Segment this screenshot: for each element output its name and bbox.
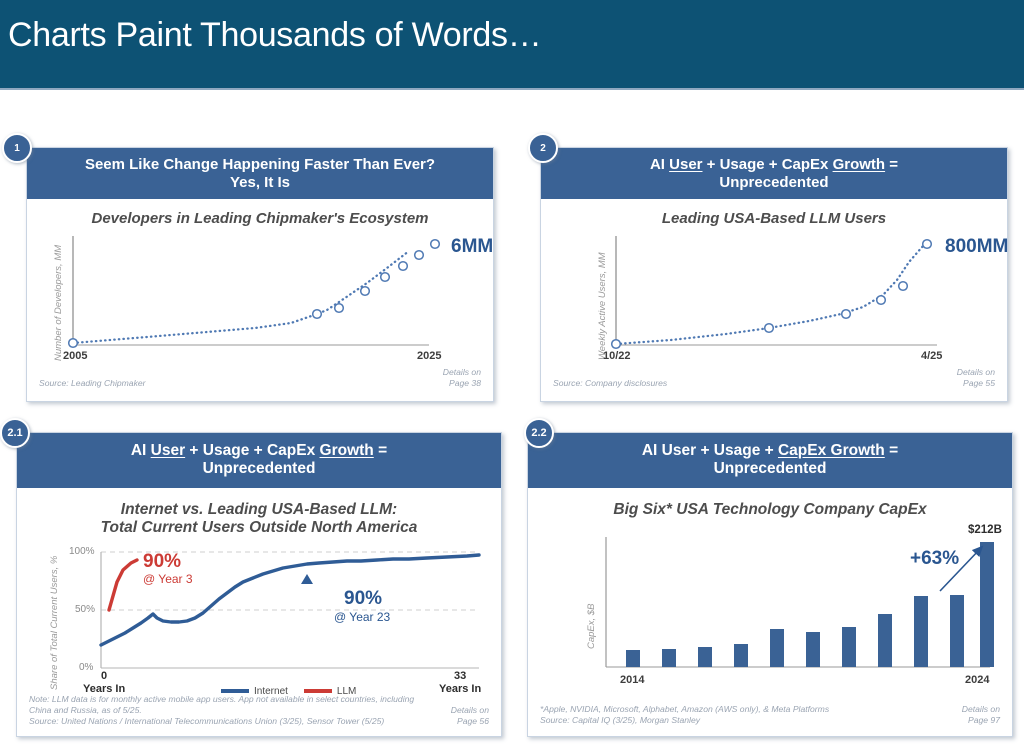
panel-2-1-note-line1: Note: LLM data is for monthly active mob… <box>29 694 429 705</box>
panel-2-2-body: Big Six* USA Technology Company CapEx Ca… <box>528 488 1012 733</box>
panel-2-2[interactable]: AI User + Usage + CapEx Growth =Unpreced… <box>527 432 1013 737</box>
panel-2-1-details-line1: Details on <box>451 705 489 716</box>
panel-2-1-internet-callout-sub: @ Year 23 <box>334 610 390 624</box>
panel-badge-2-1: 2.1 <box>0 418 30 448</box>
panel-2-2-note-line: *Apple, NVIDIA, Microsoft, Alphabet, Ama… <box>540 704 940 715</box>
panel-1-details: Details on Page 38 <box>443 367 481 389</box>
panel-2-details-line2: Page 55 <box>957 378 995 389</box>
panel-2-1-note-line2: China and Russia, as of 5/25. <box>29 705 429 716</box>
panel-2-xtick-start: 10/22 <box>603 350 631 362</box>
panel-2-2-note: *Apple, NVIDIA, Microsoft, Alphabet, Ama… <box>540 704 940 726</box>
panel-2-2-details: Details on Page 97 <box>962 704 1000 726</box>
legend-swatch-llm <box>304 689 332 693</box>
panel-2[interactable]: AI User + Usage + CapEx Growth =Unpreced… <box>540 147 1008 402</box>
panel-2-body: Leading USA-Based LLM Users Weekly Activ… <box>541 199 1007 396</box>
panel-1-details-line2: Page 38 <box>443 378 481 389</box>
panel-2-1-ytick-50: 50% <box>75 604 95 615</box>
panel-badge-2-2: 2.2 <box>524 418 554 448</box>
panel-1-xtick-start: 2005 <box>63 350 87 362</box>
panel-2-1-header: AI User + Usage + CapEx Growth =Unpreced… <box>17 433 501 488</box>
panel-2-1-body: Internet vs. Leading USA-Based LLM:Total… <box>17 488 501 733</box>
panel-2-1-x-end-unit: Years In <box>439 683 481 696</box>
panel-2-1-x-start: 0 Years In <box>83 670 125 696</box>
panel-2-1-llm-callout-pct: 90% <box>143 551 181 573</box>
panel-2-plot: Weekly Active Users, MM 10/22 4/25 800MM <box>541 228 1007 378</box>
panel-2-1-x-end-num: 33 <box>439 670 481 683</box>
panel-2-end-callout: 800MM <box>945 236 1008 258</box>
panel-2-2-details-line2: Page 97 <box>962 715 1000 726</box>
panel-2-1-x-end: 33 Years In <box>439 670 481 696</box>
panel-2-1-plot: Share of Total Current Users, % 100% 50%… <box>17 538 501 708</box>
panel-1-body: Developers in Leading Chipmaker's Ecosys… <box>27 199 493 396</box>
panel-1-xtick-end: 2025 <box>417 350 441 362</box>
panel-2-1-llm-callout-sub: @ Year 3 <box>143 572 193 586</box>
panel-2-2-xtick-end: 2024 <box>965 674 989 686</box>
panel-2-2-header: AI User + Usage + CapEx Growth =Unpreced… <box>528 433 1012 488</box>
panel-2-chart-title: Leading USA-Based LLM Users <box>541 199 1007 228</box>
panel-2-1[interactable]: AI User + Usage + CapEx Growth =Unpreced… <box>16 432 502 737</box>
panel-2-1-x-start-num: 0 <box>83 670 125 683</box>
panel-2-1-details: Details on Page 56 <box>451 705 489 727</box>
panel-2-1-internet-callout-pct: 90% <box>344 588 382 610</box>
panel-2-1-source: Source: United Nations / International T… <box>29 716 429 727</box>
panel-2-2-xtick-start: 2014 <box>620 674 644 686</box>
panel-2-source: Source: Company disclosures <box>553 378 667 389</box>
panel-2-2-source: Source: Capital IQ (3/25), Morgan Stanle… <box>540 715 940 726</box>
panel-1-plot: Number of Developers, MM 2005 2025 6MM <box>27 228 493 378</box>
panel-1-end-callout: 6MM <box>451 236 493 258</box>
legend-swatch-internet <box>221 689 249 693</box>
panel-2-xtick-end: 4/25 <box>921 350 942 362</box>
panel-2-1-chart-title: Internet vs. Leading USA-Based LLM:Total… <box>17 488 501 538</box>
panel-2-2-details-line1: Details on <box>962 704 1000 715</box>
panel-1-source: Source: Leading Chipmaker <box>39 378 146 389</box>
panel-2-header: AI User + Usage + CapEx Growth =Unpreced… <box>541 148 1007 199</box>
panel-2-2-chart-title: Big Six* USA Technology Company CapEx <box>528 488 1012 520</box>
panel-1[interactable]: Seem Like Change Happening Faster Than E… <box>26 147 494 402</box>
panel-badge-2: 2 <box>528 133 558 163</box>
panel-1-chart-title: Developers in Leading Chipmaker's Ecosys… <box>27 199 493 228</box>
panel-2-2-value-callout: $212B <box>968 524 1002 536</box>
panel-1-header: Seem Like Change Happening Faster Than E… <box>27 148 493 199</box>
panel-2-1-details-line2: Page 56 <box>451 716 489 727</box>
panel-2-2-growth-callout: +63% <box>910 548 959 570</box>
page-title: Charts Paint Thousands of Words… <box>8 16 541 55</box>
panel-2-details: Details on Page 55 <box>957 367 995 389</box>
panel-badge-1: 1 <box>2 133 32 163</box>
panel-2-2-plot: CapEx, $B <box>528 519 1012 709</box>
panel-2-1-note: Note: LLM data is for monthly active mob… <box>29 694 429 727</box>
banner-divider <box>0 88 1024 90</box>
panel-2-details-line1: Details on <box>957 367 995 378</box>
panel-1-details-line1: Details on <box>443 367 481 378</box>
page-banner: Charts Paint Thousands of Words… <box>0 0 1024 88</box>
panel-2-1-ytick-100: 100% <box>69 546 95 557</box>
